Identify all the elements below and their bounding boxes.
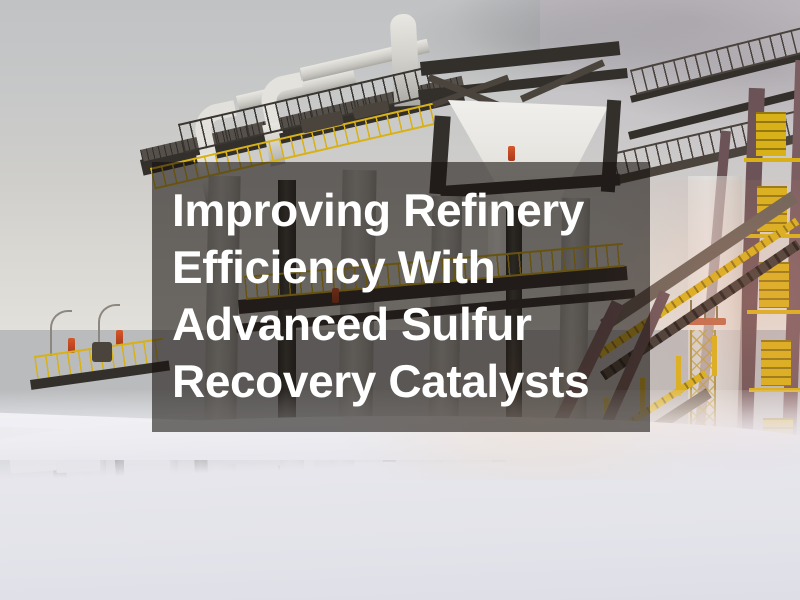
ladder-cage-1 — [756, 112, 786, 156]
lamp-head-4 — [508, 146, 515, 161]
title-line-4: Recovery Catalysts — [172, 353, 642, 410]
title-line-3: Advanced Sulfur — [172, 296, 642, 353]
title-line-1: Improving Refinery — [172, 182, 642, 239]
title-line-2: Efficiency With — [172, 239, 642, 296]
refinery-banner-image: Improving Refinery Efficiency With Advan… — [0, 0, 800, 600]
page-title: Improving Refinery Efficiency With Advan… — [172, 182, 642, 410]
left-lower-deck-equipment — [92, 342, 112, 362]
right-tower-rail-1 — [744, 158, 800, 162]
